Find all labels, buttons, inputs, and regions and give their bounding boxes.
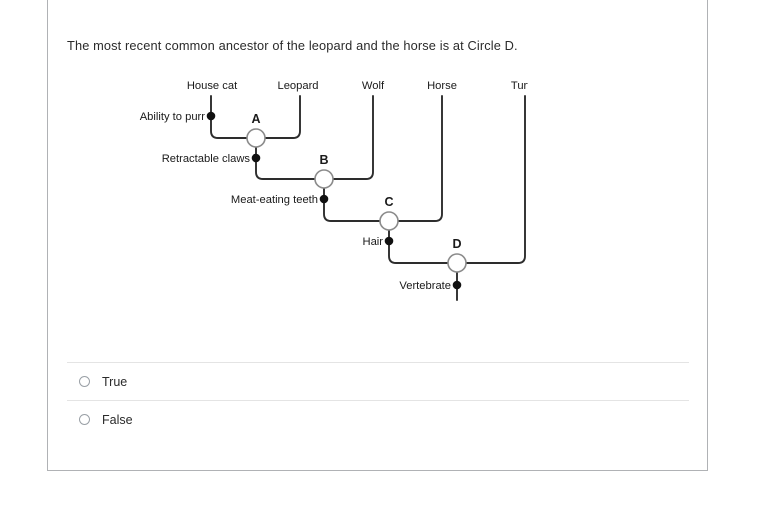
node-letter-d: D — [452, 237, 461, 251]
question-card: The most recent common ancestor of the l… — [47, 0, 708, 471]
taxon-label-house-cat: House cat — [187, 80, 238, 92]
branch-wolf — [324, 96, 373, 179]
branch-node-a-stem — [256, 138, 324, 179]
taxon-label-leopard: Leopard — [277, 80, 318, 92]
taxon-label-wolf: Wolf — [362, 80, 385, 92]
node-circle-b[interactable] — [315, 170, 333, 188]
branch-horse — [389, 96, 442, 221]
answer-option-true[interactable]: True — [67, 362, 689, 400]
node-letter-a: A — [251, 112, 260, 126]
cladogram-figure: House cat Leopard Wolf Horse Turtle Abil… — [58, 78, 528, 303]
cladogram-nodes: A B C D — [247, 112, 466, 272]
trait-label-hair: Hair — [362, 236, 383, 248]
trait-dot-vertebrate — [453, 281, 462, 290]
trait-label-vertebrate: Vertebrate — [399, 280, 451, 292]
node-circle-d[interactable] — [448, 254, 466, 272]
answer-option-false[interactable]: False — [67, 400, 689, 438]
node-circle-c[interactable] — [380, 212, 398, 230]
branch-node-c-stem — [389, 221, 457, 263]
taxon-label-turtle: Turtle — [511, 80, 528, 92]
branch-node-b-stem — [324, 179, 389, 221]
node-letter-b: B — [319, 153, 328, 167]
trait-dot-hair — [385, 237, 394, 246]
node-letter-c: C — [384, 195, 393, 209]
node-circle-a[interactable] — [247, 129, 265, 147]
trait-dot-meat-eating-teeth — [320, 195, 329, 204]
trait-label-meat-eating-teeth: Meat-eating teeth — [231, 194, 318, 206]
radio-button-true[interactable] — [79, 376, 90, 387]
trait-label-retractable-claws: Retractable claws — [162, 153, 251, 165]
answer-options-list: True False — [67, 362, 689, 438]
answer-option-true-label: True — [102, 375, 127, 389]
radio-button-false[interactable] — [79, 414, 90, 425]
branch-turtle — [457, 96, 525, 263]
trait-dot-ability-to-purr — [207, 112, 216, 121]
answer-option-false-label: False — [102, 413, 133, 427]
cladogram-trait-labels: Ability to purr Retractable claws Meat-e… — [140, 111, 462, 292]
taxon-label-horse: Horse — [427, 80, 457, 92]
question-text: The most recent common ancestor of the l… — [67, 37, 687, 54]
cladogram-diagram: House cat Leopard Wolf Horse Turtle Abil… — [58, 78, 528, 303]
cladogram-taxa-labels: House cat Leopard Wolf Horse Turtle — [187, 80, 528, 92]
trait-label-ability-to-purr: Ability to purr — [140, 111, 206, 123]
trait-dot-retractable-claws — [252, 154, 261, 163]
